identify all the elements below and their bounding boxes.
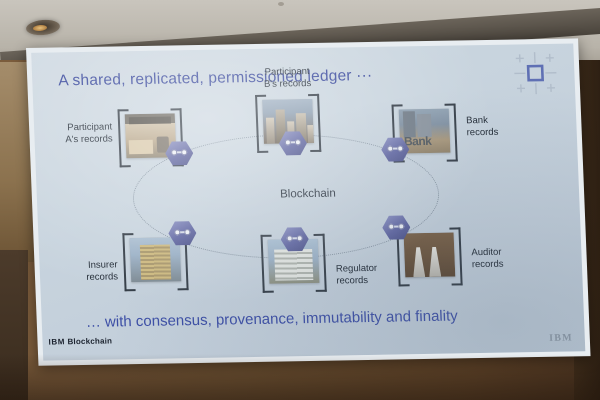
node-label-line1: Insurer — [88, 259, 118, 271]
hexagon-node-icon — [278, 130, 307, 156]
ceiling-speck — [278, 2, 284, 6]
ibm-dot-grid-icon — [511, 50, 559, 97]
slide-title: A shared, replicated, permissioned ledge… — [58, 67, 373, 90]
node-label-line2: records — [466, 127, 498, 139]
projection-screen: A shared, replicated, permissioned ledge… — [26, 38, 591, 365]
node-label-line1: Participant — [264, 66, 309, 78]
node-label-line2: A's records — [65, 133, 113, 145]
node-label-line2: B's records — [264, 78, 312, 90]
node-label-line2: records — [86, 271, 118, 283]
hexagon-node-icon — [280, 226, 309, 252]
node-label-line2: records — [472, 259, 504, 271]
footer-brand-ibm: IBM — [48, 337, 65, 346]
thumbnail-image — [404, 233, 456, 278]
node-label-line1: Auditor — [471, 247, 502, 259]
node-label-line1: Participant — [67, 121, 112, 133]
node-label-line2: records — [336, 275, 368, 287]
lower-wall-shadow — [0, 354, 600, 400]
node-label-line1: Regulator — [336, 263, 378, 275]
hexagon-node-icon — [381, 136, 410, 162]
node-label-line1: Bank — [466, 115, 488, 126]
slide-tagline: … with consensus, provenance, immutabili… — [85, 307, 458, 330]
ibm-logo: IBM — [549, 332, 573, 343]
conference-room-photo: A shared, replicated, permissioned ledge… — [0, 0, 600, 400]
presentation-slide: A shared, replicated, permissioned ledge… — [31, 43, 585, 360]
hexagon-node-icon — [382, 214, 411, 240]
hexagon-node-icon — [165, 140, 194, 166]
hexagon-node-icon — [168, 220, 197, 246]
footer-brand: IBM Blockchain — [48, 336, 112, 346]
footer-brand-product: Blockchain — [67, 336, 112, 346]
